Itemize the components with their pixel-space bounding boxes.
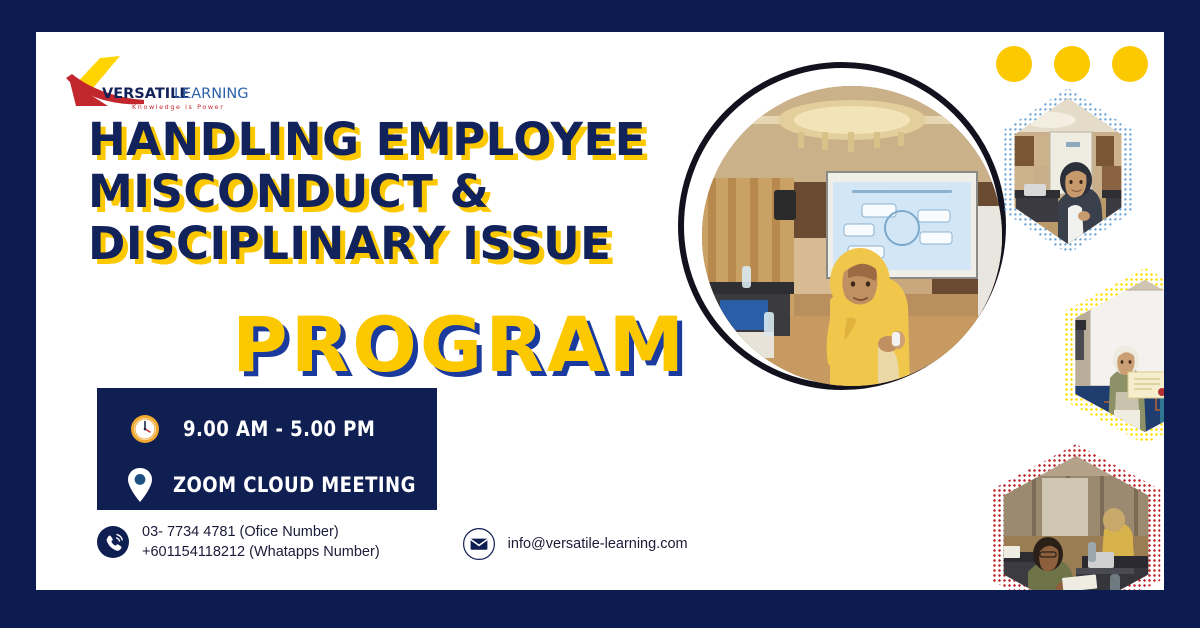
decorative-dot-1	[996, 46, 1032, 82]
envelope-icon	[462, 527, 496, 561]
clock-icon	[125, 413, 165, 445]
decorative-dot-2	[1054, 46, 1090, 82]
brand-logo: VERSATILE LEARNING Knowledge is Power	[58, 54, 248, 116]
main-photo	[702, 86, 1002, 386]
phone-call-icon	[96, 525, 130, 559]
logo-word-learning: LEARNING	[174, 86, 248, 102]
logo-tagline: Knowledge is Power	[132, 103, 224, 111]
location-pin-icon	[125, 466, 155, 504]
photo-hex-middle-art	[1064, 280, 1164, 432]
headline-line-2: MISCONDUCT &	[88, 166, 748, 218]
poster-root: VERSATILE LEARNING Knowledge is Power HA…	[0, 0, 1200, 628]
contact-email[interactable]: info@versatile-learning.com	[462, 522, 688, 561]
white-content-panel: VERSATILE LEARNING Knowledge is Power HA…	[36, 32, 1164, 590]
logo-mark-and-wordmark: VERSATILE LEARNING Knowledge is Power	[58, 54, 248, 116]
headline-block: HANDLING EMPLOYEE MISCONDUCT & DISCIPLIN…	[88, 114, 748, 270]
photo-hex-middle	[1064, 280, 1164, 432]
contact-phone[interactable]: 03- 7734 4781 (Ofice Number) +6011541182…	[96, 522, 380, 562]
phone-text-group: 03- 7734 4781 (Ofice Number) +6011541182…	[142, 522, 380, 562]
event-details-box: 9.00 AM - 5.00 PM ZOOM CLOUD MEETING	[97, 388, 437, 510]
photo-collage	[656, 32, 1164, 590]
phone-office-number: 03- 7734 4781 (Ofice Number)	[142, 522, 380, 542]
detail-row-time: 9.00 AM - 5.00 PM	[125, 408, 437, 450]
headline-line-1: HANDLING EMPLOYEE	[88, 114, 748, 166]
program-title: PROGRAM	[232, 304, 687, 386]
certificate	[1128, 372, 1164, 398]
headline-line-3: DISCIPLINARY ISSUE	[88, 218, 748, 270]
contact-bar: 03- 7734 4781 (Ofice Number) +6011541182…	[96, 522, 688, 562]
main-photo-art	[702, 86, 1002, 386]
detail-row-location: ZOOM CLOUD MEETING	[125, 464, 437, 506]
detail-time-text: 9.00 AM - 5.00 PM	[183, 417, 375, 441]
decorative-dots	[996, 46, 1148, 82]
decorative-dot-3	[1112, 46, 1148, 82]
phone-whatsapp-number: +601154118212 (Whatapps Number)	[142, 542, 380, 562]
detail-location-text: ZOOM CLOUD MEETING	[173, 473, 416, 497]
